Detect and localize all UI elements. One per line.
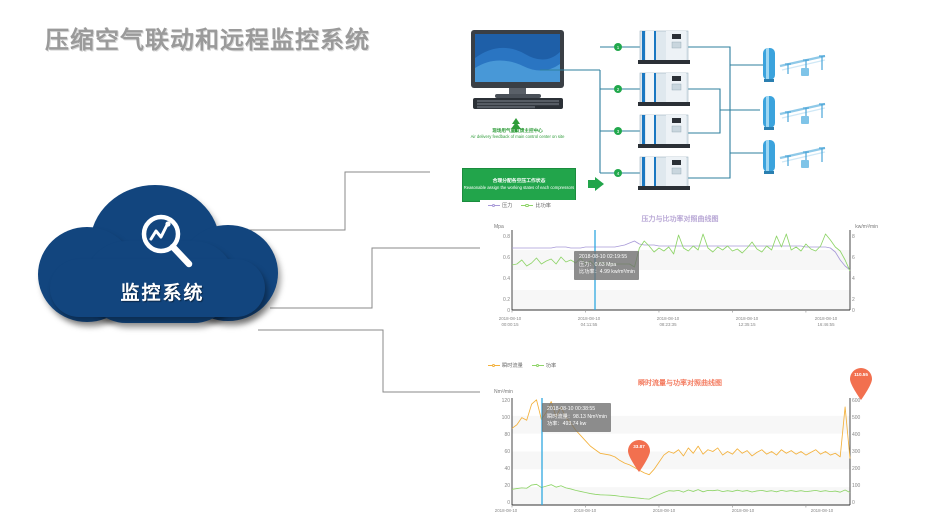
page-title: 压缩空气联动和远程监控系统 [45,20,370,55]
chart1-xtick-4: 2018-08-1016:46:55 [802,316,850,327]
chart2-marker-high[interactable]: 110.55 [849,368,873,400]
chart1-xtick-1: 2018-08-1004:11:55 [565,316,613,327]
chart2-xtick-2: 2018-08-10 [640,508,688,514]
cloud-label: 监控系统 [30,278,295,305]
chart1-tooltip-line2: 比功率：4.99 kw/m³/min [579,269,635,277]
chart2-xtick-3: 2018-08-10 [719,508,767,514]
compressor-unit [638,73,690,106]
chart2-marker-high-label: 110.55 [849,372,873,377]
compressor-unit [638,31,690,64]
chart1-xtick-3: 2018-08-1012:35:15 [723,316,771,327]
air-tank-assembly [763,48,825,82]
chart2-marker-low[interactable]: 33.87 [627,440,651,472]
chart2-xtick-0: 2018-08-10 [482,508,530,514]
piping-network: 1 2 3 4 [430,18,945,203]
compressor-unit [638,115,690,148]
compressor-unit [638,157,690,190]
chart1-tooltip: 2018-08-10 02:19:55 压力：0.63 Mpa 比功率：4.99… [574,251,639,280]
magnifier-chart-icon [135,210,199,274]
chart2-marker-low-label: 33.87 [627,444,651,449]
flow-power-chart[interactable]: 瞬时流量 功率 瞬时流量与功率对照曲线图 Nm³/min 120 100 80 … [480,360,880,529]
chart2-xtick-4: 2018-08-10 [798,508,846,514]
chart1-tooltip-line1: 压力：0.63 Mpa [579,262,635,270]
pressure-specific-power-chart[interactable]: 压力 比功率 压力与比功率对照曲线图 Mpa kw/m³/min 0.8 0.6… [480,200,880,335]
chart2-tooltip-line2: 功率：493.74 kw [547,421,607,429]
chart2-tooltip-line1: 瞬时流量：98.13 Nm³/min [547,414,607,422]
chart1-xtick-2: 2018-08-1008:23:35 [644,316,692,327]
chart2-tooltip-time: 2018-08-10 00:38:55 [547,406,607,414]
chart1-tooltip-time: 2018-08-10 02:19:55 [579,254,635,262]
chart2-xtick-1: 2018-08-10 [561,508,609,514]
system-topology-diagram: 现场用气量反馈主控中心 Air delivery feedback of mai… [430,18,945,203]
chart1-plot[interactable] [480,200,880,335]
chart2-plot[interactable] [480,360,880,529]
air-tank-assembly [763,96,825,130]
chart1-xtick-0: 2018-08-1000:00:15 [486,316,534,327]
chart2-tooltip: 2018-08-10 00:38:55 瞬时流量：98.13 Nm³/min 功… [542,403,611,432]
monitoring-cloud[interactable]: 监控系统 [30,185,295,325]
air-tank-assembly [763,140,825,174]
